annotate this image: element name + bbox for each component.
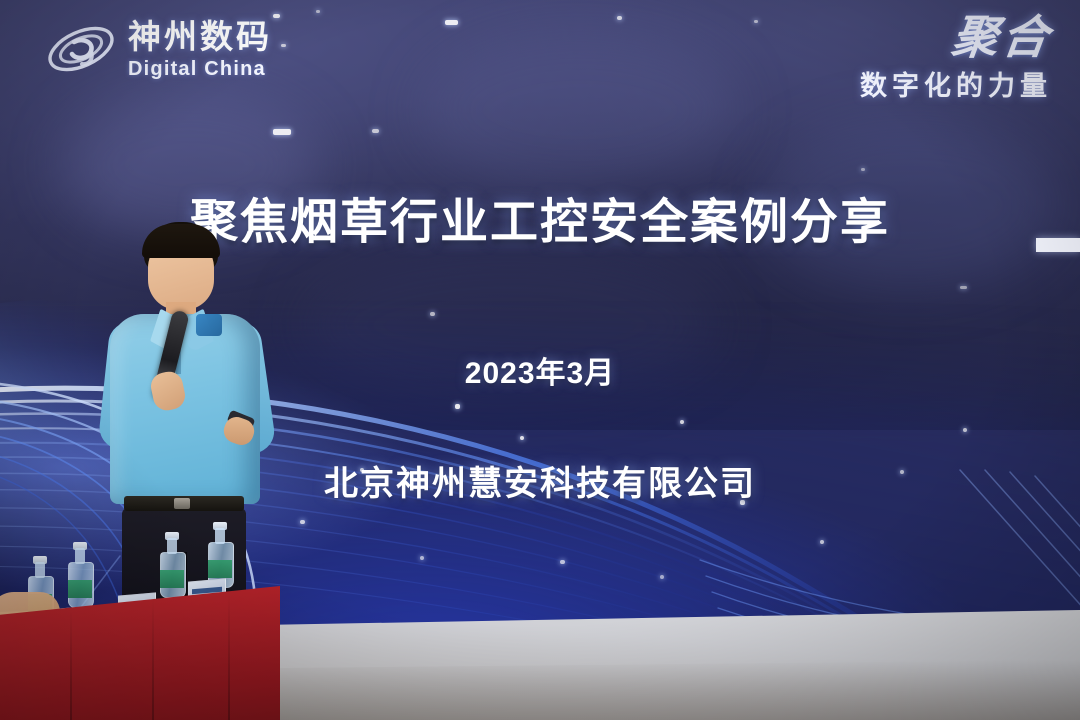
particle-speck <box>820 540 824 544</box>
particle-speck <box>273 129 291 135</box>
bottle-body <box>68 562 94 608</box>
particle-speck <box>680 420 684 424</box>
particle-speck <box>861 168 865 171</box>
bottle-label <box>208 560 232 578</box>
particle-speck <box>420 556 424 560</box>
particle-speck <box>617 16 622 20</box>
water-bottle <box>68 562 92 608</box>
speaker-polo-shirt <box>110 314 260 504</box>
particle-speck <box>372 129 379 133</box>
calligraphy-juhe: 聚合 <box>857 16 1054 60</box>
brand-chinese-name: 神州数码 <box>128 20 272 53</box>
particle-speck <box>445 20 458 25</box>
particle-speck <box>273 14 280 18</box>
campaign-tagline: 数字化的力量 <box>860 64 1052 103</box>
speaker-hair-top <box>142 224 220 258</box>
particle-speck <box>281 44 286 47</box>
cloth-fold <box>70 608 72 720</box>
bottle-neck <box>167 538 177 554</box>
particle-speck <box>960 286 967 289</box>
juhe-campaign-logo: 聚合 数字化的力量 <box>860 16 1052 103</box>
particle-speck <box>455 404 460 409</box>
particle-speck <box>560 560 565 564</box>
bottle-label <box>68 580 92 598</box>
bottle-label <box>160 570 184 588</box>
particle-speck <box>300 520 305 524</box>
water-bottle <box>160 552 184 598</box>
bottle-neck <box>75 548 85 564</box>
cloth-fold <box>228 592 230 720</box>
digital-china-wordmark: 神州数码 Digital China <box>128 20 272 79</box>
galaxy-swirl-icon <box>44 18 118 80</box>
speaker-belt-buckle <box>174 498 190 509</box>
particle-speck <box>430 312 435 316</box>
screen-edge-highlight <box>1036 238 1080 252</box>
particle-speck <box>754 20 758 23</box>
cloth-fold <box>152 598 154 720</box>
speaker-chest-logo <box>196 314 222 336</box>
conference-stage-photo: 神州数码 Digital China 聚合 数字化的力量 聚焦烟草行业工控安全案… <box>0 0 1080 720</box>
particle-speck <box>520 436 524 440</box>
bottle-neck <box>35 562 45 578</box>
particle-speck <box>963 428 967 432</box>
digital-china-logo: 神州数码 Digital China <box>44 18 272 80</box>
speaker-figure <box>96 222 276 622</box>
bottle-neck <box>215 528 225 544</box>
particle-speck <box>316 10 320 13</box>
bottle-body <box>160 552 186 598</box>
brand-english-name: Digital China <box>128 59 272 79</box>
particle-speck <box>660 575 664 579</box>
